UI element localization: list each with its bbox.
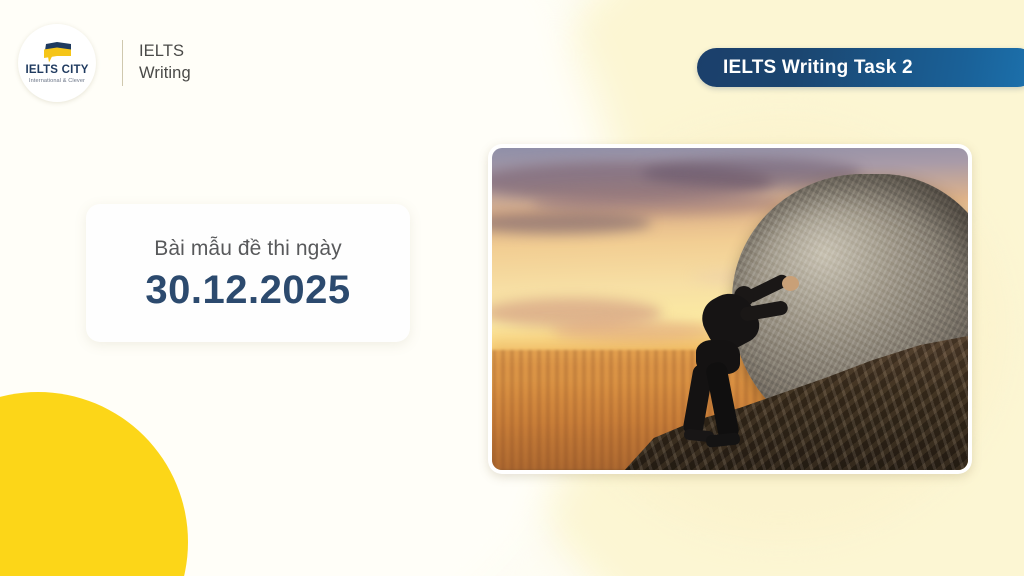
illustration-photo (492, 148, 968, 470)
logo-title: IELTS CITY (25, 65, 88, 77)
logo-tagline: International & Clever (29, 79, 85, 85)
exam-date-card: Bài mẫu đề thi ngày 30.12.2025 (86, 204, 410, 342)
illustration-photo-frame (488, 144, 972, 474)
brand-label: IELTS Writing (139, 41, 191, 85)
cloud-shape (492, 212, 652, 234)
ielts-city-logo: IELTS CITY International & Clever (18, 24, 96, 102)
brand-header: IELTS CITY International & Clever IELTS … (18, 24, 191, 102)
brand-divider (122, 40, 123, 86)
exam-date-value: 30.12.2025 (145, 270, 350, 310)
person-hand (782, 276, 799, 291)
brand-label-line2: Writing (139, 63, 191, 85)
task-banner-label: IELTS Writing Task 2 (723, 57, 913, 79)
task-banner: IELTS Writing Task 2 (697, 48, 1024, 87)
person-pushing-boulder (682, 266, 802, 456)
person-front-leg (705, 361, 740, 442)
exam-date-caption: Bài mẫu đề thi ngày (154, 237, 342, 261)
person-front-foot (705, 432, 740, 447)
brand-label-line1: IELTS (139, 41, 191, 63)
open-book-speech-bubble-icon (40, 41, 74, 64)
slide-canvas: IELTS CITY International & Clever IELTS … (0, 0, 1024, 576)
